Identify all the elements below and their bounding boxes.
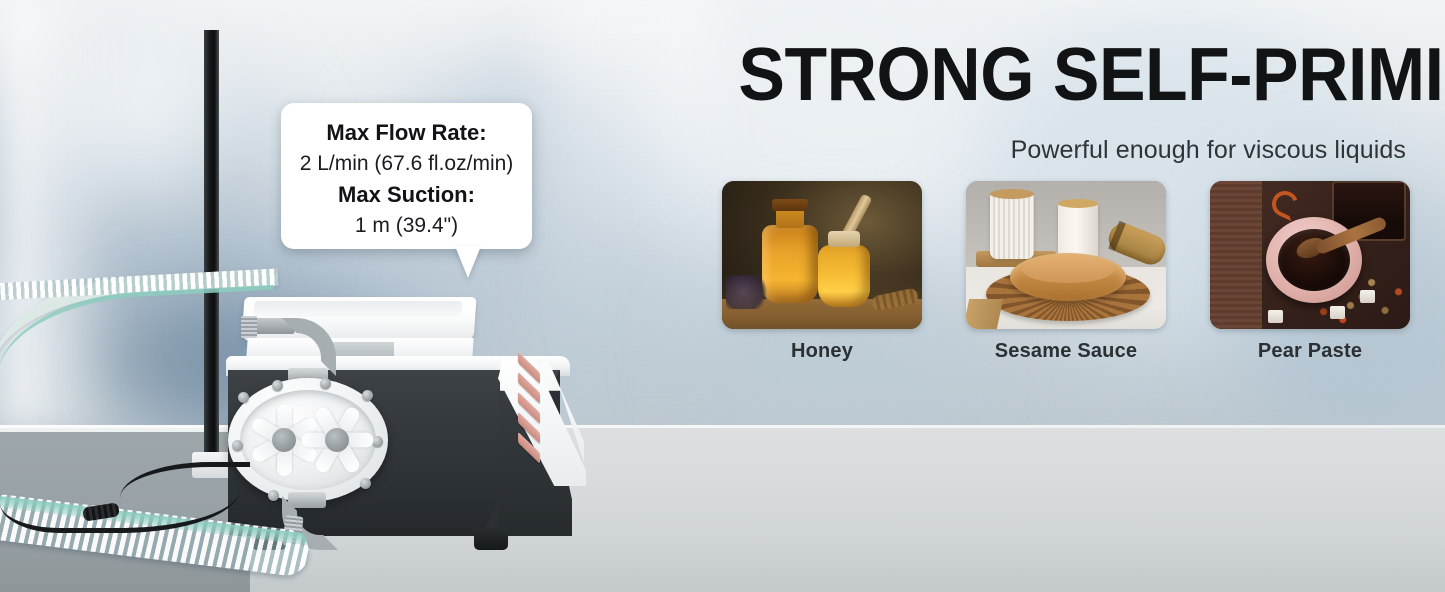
self-priming-gear-pump <box>0 0 640 592</box>
product-banner: STRONG SELF-PRIMING PUMP Powerful enough… <box>0 0 1445 592</box>
hose-clamp-icon <box>241 316 257 338</box>
pump-bolt <box>268 490 279 501</box>
rotor-gear-icon <box>300 403 374 477</box>
product-label: Sesame Sauce <box>966 340 1166 363</box>
pump-bolt <box>238 392 249 403</box>
pump-bolt <box>320 378 331 389</box>
collection-tray-inner <box>253 301 462 317</box>
list-item: Pear Paste <box>1210 181 1410 366</box>
pear-paste-bowl-photo <box>1210 181 1410 329</box>
list-item: Honey <box>722 181 922 366</box>
pump-bolt <box>362 390 373 401</box>
suction-label: Max Suction: <box>281 179 532 210</box>
product-label: Pear Paste <box>1210 340 1410 363</box>
product-label: Honey <box>722 340 922 363</box>
power-cord-upper <box>120 462 250 498</box>
suction-value: 1 m (39.4") <box>281 210 532 241</box>
product-list: Honey Sesame Sauce <box>722 181 1410 366</box>
specs-callout: Max Flow Rate: 2 L/min (67.6 fl.oz/min) … <box>281 103 532 249</box>
pump-bolt <box>272 380 283 391</box>
pump-bolt <box>360 478 371 489</box>
flow-rate-label: Max Flow Rate: <box>281 117 532 148</box>
callout-tail <box>455 246 481 278</box>
machine-foot <box>474 528 508 550</box>
honey-jars-photo <box>722 181 922 329</box>
pump-bolt <box>232 440 243 451</box>
flow-rate-value: 2 L/min (67.6 fl.oz/min) <box>281 148 532 179</box>
sesame-bowl-photo <box>966 181 1166 329</box>
support-post-icon <box>204 30 219 460</box>
page-subtitle: Powerful enough for viscous liquids <box>700 136 1406 165</box>
page-title: STRONG SELF-PRIMING PUMP <box>738 34 1408 114</box>
list-item: Sesame Sauce <box>966 181 1166 366</box>
tray-gap <box>330 342 394 356</box>
